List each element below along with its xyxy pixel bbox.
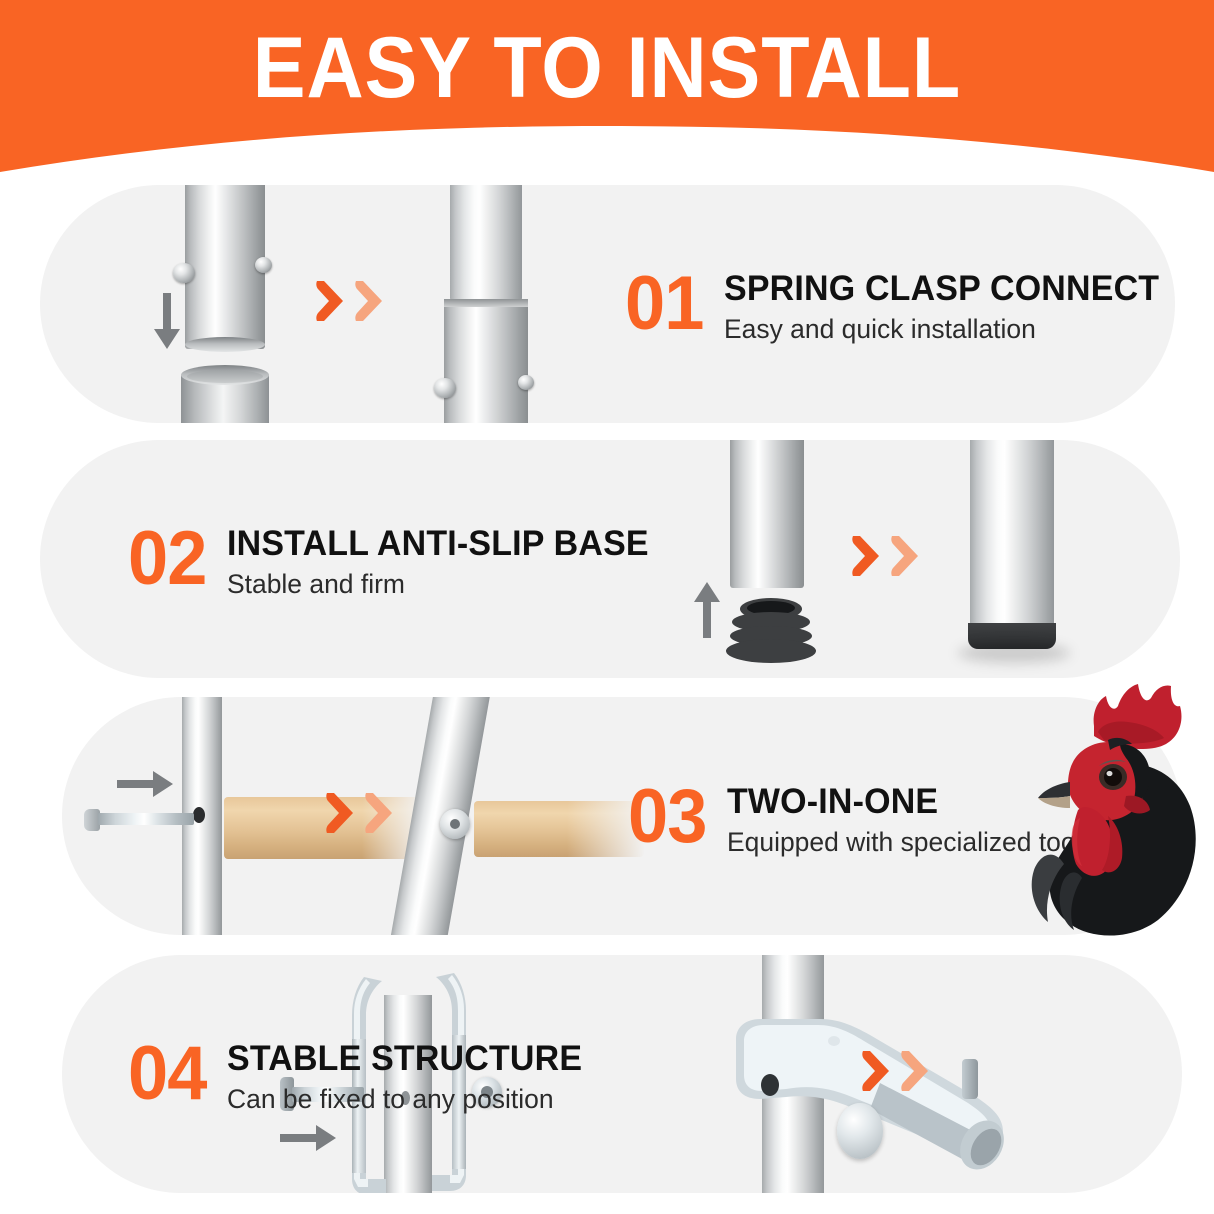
leg-pipe — [730, 440, 804, 588]
assembled-screw-center — [450, 819, 460, 829]
chevron-right-icon-faded — [351, 278, 385, 324]
screw-shaft — [98, 813, 194, 825]
arrow-right-icon — [117, 769, 175, 799]
assembled-leg-pipe — [970, 440, 1054, 630]
rubber-cap-base-flange — [726, 639, 816, 663]
leg-pipe-bottom-edge — [730, 582, 804, 591]
assembled-leg-shadow — [958, 643, 1070, 663]
assembled-pipe-bottom — [444, 303, 528, 423]
page-title: EASY TO INSTALL — [49, 22, 1166, 114]
chevron-pair-step-03 — [322, 790, 395, 836]
assembled-pipe-seam — [444, 299, 528, 307]
rooster-photo — [952, 678, 1214, 940]
assembled-pipe-top — [450, 185, 522, 301]
pipe-upper-bottom-edge — [185, 337, 265, 352]
assembled-clamp-knob — [837, 1103, 883, 1159]
infographic-page: EASY TO INSTALL 01 SP — [0, 0, 1214, 1214]
header-banner: EASY TO INSTALL — [0, 0, 1214, 175]
chevron-right-icon-solid — [858, 1048, 892, 1094]
spring-clasp-button-left — [173, 263, 195, 283]
step-text-02: 02 INSTALL ANTI-SLIP BASE Stable and fir… — [128, 520, 661, 600]
step-number-01: 01 — [625, 265, 703, 343]
step-subtitle-04: Can be fixed to any position — [227, 1083, 586, 1115]
step-number-04: 04 — [128, 1035, 206, 1113]
step-subtitle-01: Easy and quick installation — [724, 313, 1164, 345]
pipe-lower-inner-bore — [187, 370, 263, 383]
assembled-clamp-lever — [962, 1059, 978, 1099]
step-title-02: INSTALL ANTI-SLIP BASE — [227, 524, 649, 564]
step-title-01: SPRING CLASP CONNECT — [724, 269, 1159, 309]
chevron-right-icon-faded — [361, 790, 395, 836]
chevron-pair-step-01 — [312, 278, 385, 324]
arrow-right-icon — [280, 1123, 338, 1153]
chevron-right-icon-solid — [848, 533, 882, 579]
step-number-02: 02 — [128, 520, 206, 598]
step-title-04: STABLE STRUCTURE — [227, 1039, 582, 1079]
step-number-03: 03 — [628, 778, 706, 856]
spring-clasp-button-right — [255, 257, 272, 273]
pipe-upper-segment — [185, 185, 265, 349]
chevron-right-icon-solid — [322, 790, 356, 836]
assembled-clasp-button-left — [434, 378, 456, 398]
arrow-up-icon — [690, 580, 724, 638]
chevron-right-icon-solid — [312, 278, 346, 324]
chevron-pair-step-04 — [858, 1048, 931, 1094]
step-subtitle-02: Stable and firm — [227, 568, 653, 600]
chevron-right-icon-faded — [897, 1048, 931, 1094]
step-text-04: 04 STABLE STRUCTURE Can be fixed to any … — [128, 1035, 593, 1115]
step-text-01: 01 SPRING CLASP CONNECT Easy and quick i… — [625, 265, 1172, 345]
pipe-screw-hole — [193, 807, 205, 823]
arrow-down-icon — [150, 293, 184, 351]
assembled-clasp-button-right — [518, 375, 534, 390]
chevron-right-icon-faded — [887, 533, 921, 579]
chevron-pair-step-02 — [848, 533, 921, 579]
